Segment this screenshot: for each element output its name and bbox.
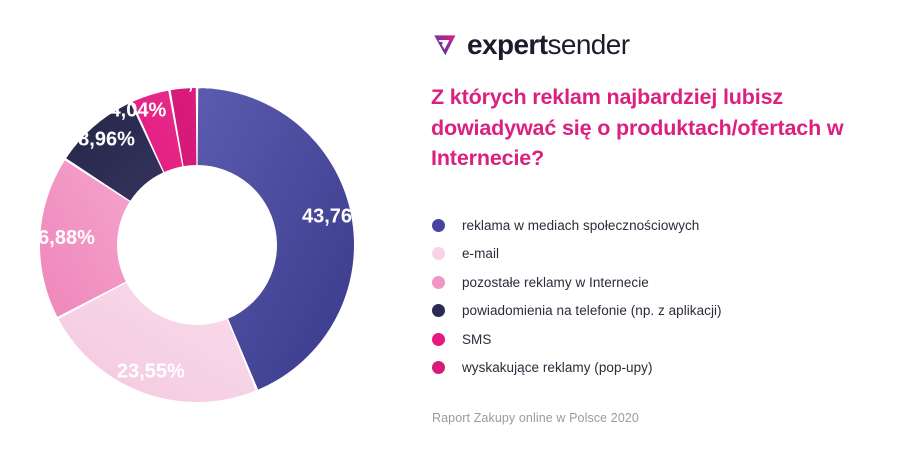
logo-wordmark-light: sender [547,29,629,60]
legend-item[interactable]: e-mail [432,240,892,269]
info-pane: expertsender Z których reklam najbardzie… [428,0,900,460]
legend-item[interactable]: pozostałe reklamy w Internecie [432,268,892,297]
legend-color-swatch-icon [432,304,445,317]
donut-slice-label: 4,04% [110,99,167,121]
donut-slice-label: 16,88% [27,227,95,249]
donut-slice-label: 8,96% [78,128,135,150]
expertsender-logo: expertsender [432,28,629,62]
legend-item[interactable]: powiadomienia na telefonie (np. z aplika… [432,297,892,326]
legend-color-swatch-icon [432,247,445,260]
logo-wordmark: expertsender [467,31,629,59]
legend-item[interactable]: wyskakujące reklamy (pop-upy) [432,354,892,383]
legend-item-label: pozostałe reklamy w Internecie [462,275,649,290]
chart-title: Z których reklam najbardziej lubisz dowi… [431,82,897,174]
donut-slice-label: 43,76% [302,206,370,228]
donut-slice-label: 2,81% [177,71,234,93]
source-note: Raport Zakupy online w Polsce 2020 [432,411,639,425]
logo-wordmark-bold: expert [467,29,547,60]
legend-item[interactable]: reklama w mediach społecznościowych [432,211,892,240]
donut-slice-label: 23,55% [117,361,185,383]
legend-color-swatch-icon [432,219,445,232]
infographic-canvas: 43,76%23,55%16,88%8,96%4,04%2,81% expert… [0,0,900,460]
legend-color-swatch-icon [432,276,445,289]
donut-chart: 43,76%23,55%16,88%8,96%4,04%2,81% [0,0,410,460]
chart-legend: reklama w mediach społecznościowyche-mai… [432,211,892,382]
legend-item-label: reklama w mediach społecznościowych [462,218,699,233]
legend-item-label: e-mail [462,246,499,261]
legend-item-label: powiadomienia na telefonie (np. z aplika… [462,303,722,318]
legend-color-swatch-icon [432,361,445,374]
expertsender-triangle-mark-icon [432,32,458,58]
legend-item-label: wyskakujące reklamy (pop-upy) [462,360,653,375]
donut-chart-svg: 43,76%23,55%16,88%8,96%4,04%2,81% [0,0,410,460]
legend-item[interactable]: SMS [432,325,892,354]
legend-color-swatch-icon [432,333,445,346]
legend-item-label: SMS [462,332,491,347]
